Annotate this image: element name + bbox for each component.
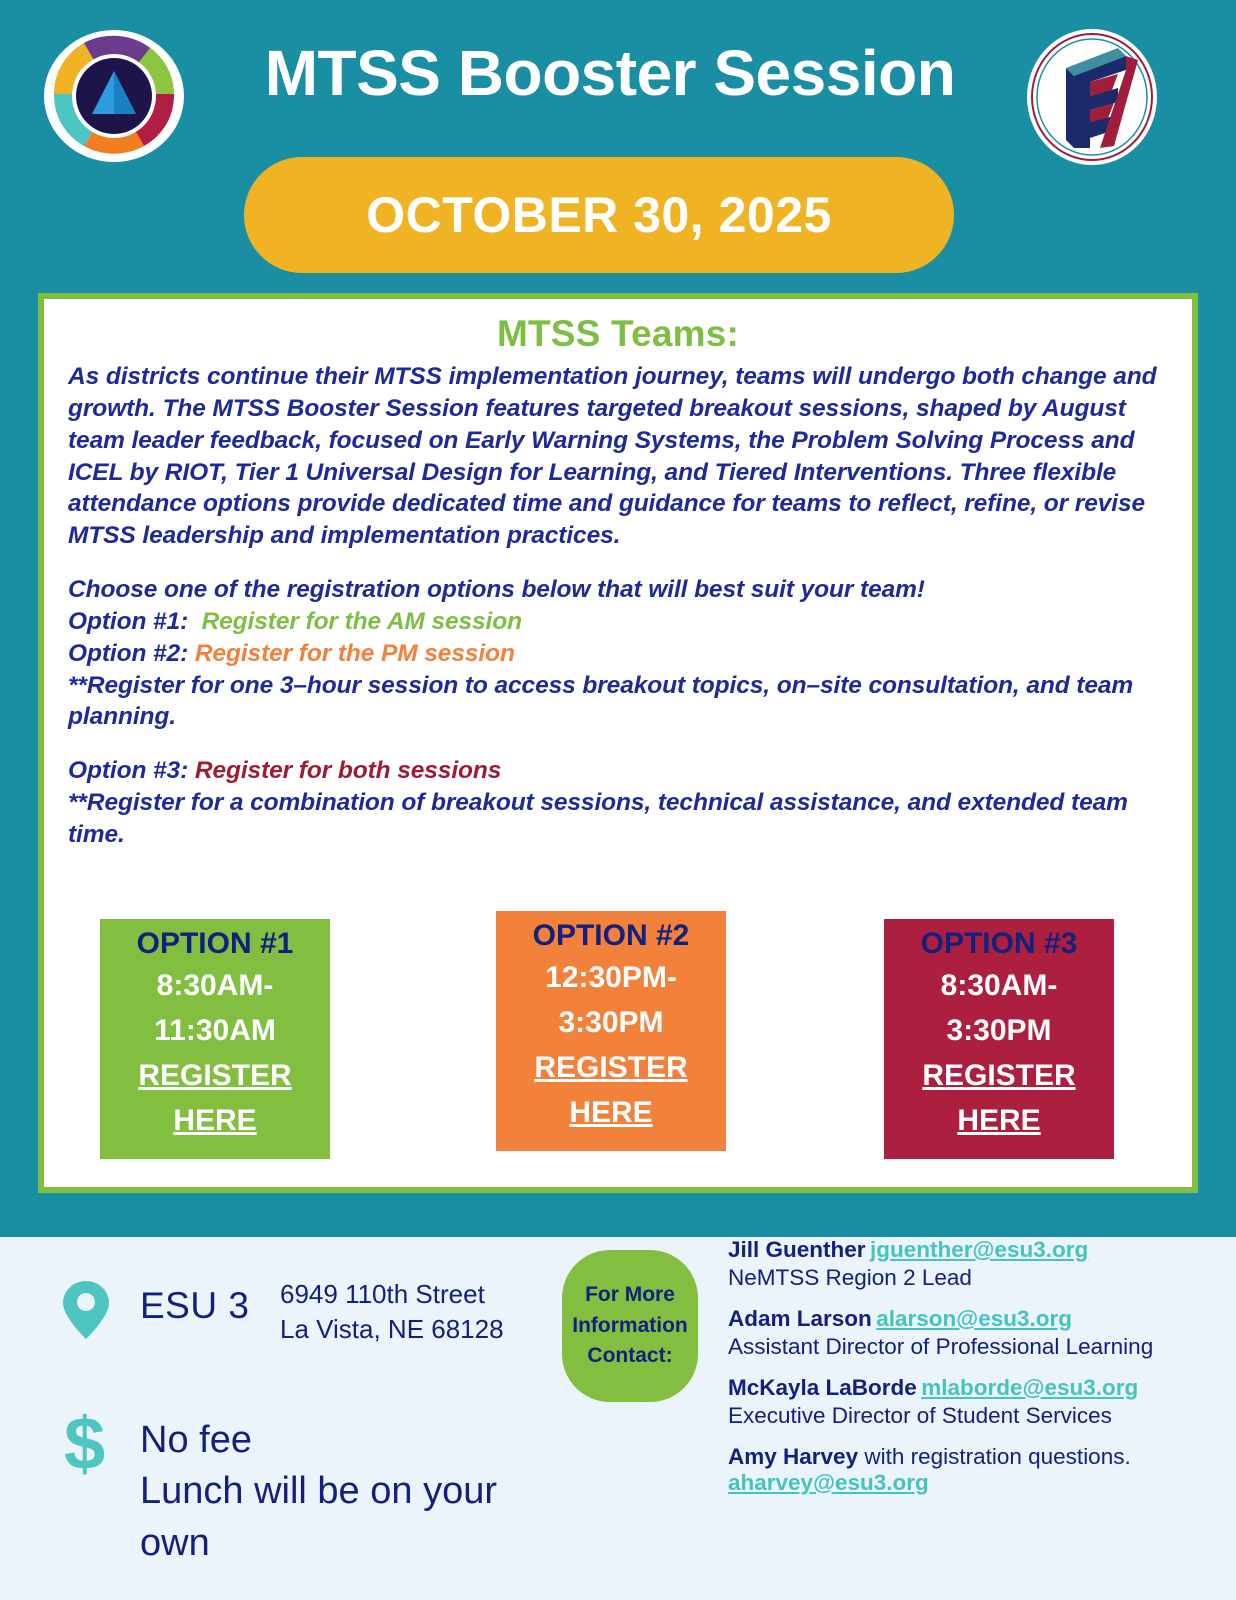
contact-item: Amy Harvey with registration questions. … <box>728 1444 1228 1496</box>
option2-link[interactable]: Register for the PM session <box>195 640 515 667</box>
option-box-2-time-1: 12:30PM- <box>496 955 726 1000</box>
option-box-1-time-2: 11:30AM <box>100 1008 330 1053</box>
card-body: As districts continue their MTSS impleme… <box>44 361 1192 851</box>
option12-note: **Register for one 3–hour session to acc… <box>68 670 1168 734</box>
footer-left-column: ESU 3 6949 110th Street La Vista, NE 681… <box>50 1263 570 1531</box>
contact-name: McKayla LaBorde <box>728 1375 917 1400</box>
map-pin-icon <box>62 1279 110 1341</box>
choose-line: Choose one of the registration options b… <box>68 574 1168 606</box>
address-line-1: 6949 110th Street <box>280 1279 485 1309</box>
contact-item: McKayla LaBorde mlaborde@esu3.org Execut… <box>728 1375 1228 1431</box>
option3-note: **Register for a combination of breakout… <box>68 787 1168 851</box>
contact-email-link[interactable]: aharvey@esu3.org <box>728 1470 1228 1496</box>
dollar-icon: $ <box>64 1407 105 1481</box>
fee-text: No fee Lunch will be on your own <box>140 1415 570 1569</box>
contact-item: Adam Larson alarson@esu3.org Assistant D… <box>728 1306 1228 1362</box>
fee-line-1: No fee <box>140 1419 252 1461</box>
poster-footer: ESU 3 6949 110th Street La Vista, NE 681… <box>0 1237 1236 1600</box>
fee-row: $ No fee Lunch will be on your own <box>50 1411 570 1531</box>
esu3-logo-icon <box>1022 26 1162 168</box>
fee-line-2: Lunch will be on your own <box>140 1470 497 1563</box>
main-content-card: MTSS Teams: As districts continue their … <box>38 293 1198 1193</box>
contact-note: with registration questions. <box>858 1444 1131 1469</box>
event-date-badge: OCTOBER 30, 2025 <box>244 157 954 273</box>
contact-callout-badge: For More Information Contact: <box>562 1250 698 1402</box>
option-box-3-register-link-1[interactable]: REGISTER <box>884 1053 1114 1098</box>
option-box-3[interactable]: OPTION #3 8:30AM- 3:30PM REGISTER HERE <box>884 919 1114 1159</box>
option-box-3-register-link-2[interactable]: HERE <box>884 1098 1114 1143</box>
option-boxes-row: OPTION #1 8:30AM- 11:30AM REGISTER HERE … <box>44 911 1192 1181</box>
flyer-poster: MTSS Booster Session OCTOBER 30, 2025 MT… <box>0 0 1236 1600</box>
option-box-1[interactable]: OPTION #1 8:30AM- 11:30AM REGISTER HERE <box>100 919 330 1159</box>
option-box-3-time-1: 8:30AM- <box>884 963 1114 1008</box>
option-box-2-register-link-1[interactable]: REGISTER <box>496 1045 726 1090</box>
option-box-2-title: OPTION #2 <box>496 917 726 955</box>
option-box-2-time-2: 3:30PM <box>496 1000 726 1045</box>
option-box-1-title: OPTION #1 <box>100 925 330 963</box>
option3-line: Option #3: Register for both sessions <box>68 755 1168 787</box>
contact-item: Jill Guenther jguenther@esu3.org NeMTSS … <box>728 1237 1228 1293</box>
callout-line-1: For More <box>585 1283 675 1306</box>
option-box-3-time-2: 3:30PM <box>884 1008 1114 1053</box>
poster-header: MTSS Booster Session OCTOBER 30, 2025 <box>0 0 1236 293</box>
nemtss-logo-icon <box>40 26 188 166</box>
contact-name: Amy Harvey <box>728 1444 858 1469</box>
option-box-2[interactable]: OPTION #2 12:30PM- 3:30PM REGISTER HERE <box>496 911 726 1151</box>
contact-email-link[interactable]: jguenther@esu3.org <box>870 1237 1088 1262</box>
location-row: ESU 3 6949 110th Street La Vista, NE 681… <box>50 1263 570 1355</box>
option2-label: Option #2: <box>68 640 188 667</box>
intro-paragraph: As districts continue their MTSS impleme… <box>68 361 1168 552</box>
page-title: MTSS Booster Session <box>210 40 1010 107</box>
card-heading: MTSS Teams: <box>44 313 1192 355</box>
option-box-1-register-link-2[interactable]: HERE <box>100 1098 330 1143</box>
contact-email-link[interactable]: alarson@esu3.org <box>876 1306 1072 1331</box>
option1-line: Option #1: Register for the AM session <box>68 606 1168 638</box>
option1-link[interactable]: Register for the AM session <box>202 608 522 635</box>
contact-role: Executive Director of Student Services <box>728 1401 1228 1431</box>
contact-role: Assistant Director of Professional Learn… <box>728 1332 1228 1362</box>
contact-email-link[interactable]: mlaborde@esu3.org <box>921 1375 1138 1400</box>
option2-line: Option #2: Register for the PM session <box>68 638 1168 670</box>
option-box-3-title: OPTION #3 <box>884 925 1114 963</box>
option3-label: Option #3: <box>68 757 188 784</box>
contact-name: Adam Larson <box>728 1306 872 1331</box>
option-box-1-time-1: 8:30AM- <box>100 963 330 1008</box>
event-date-text: OCTOBER 30, 2025 <box>366 186 832 244</box>
address-line-2: La Vista, NE 68128 <box>280 1314 504 1344</box>
option-box-2-register-link-2[interactable]: HERE <box>496 1090 726 1135</box>
contacts-list: Jill Guenther jguenther@esu3.org NeMTSS … <box>728 1237 1228 1509</box>
callout-line-2: Information <box>572 1314 688 1337</box>
contact-name: Jill Guenther <box>728 1237 866 1262</box>
venue-name: ESU 3 <box>140 1285 249 1327</box>
contact-callout-text: For More Information Contact: <box>572 1280 688 1371</box>
callout-line-3: Contact: <box>587 1344 672 1367</box>
option3-link[interactable]: Register for both sessions <box>195 757 501 784</box>
contact-role: NeMTSS Region 2 Lead <box>728 1263 1228 1293</box>
option1-label: Option #1: <box>68 608 188 635</box>
option-box-1-register-link-1[interactable]: REGISTER <box>100 1053 330 1098</box>
venue-address: 6949 110th Street La Vista, NE 68128 <box>280 1277 504 1347</box>
